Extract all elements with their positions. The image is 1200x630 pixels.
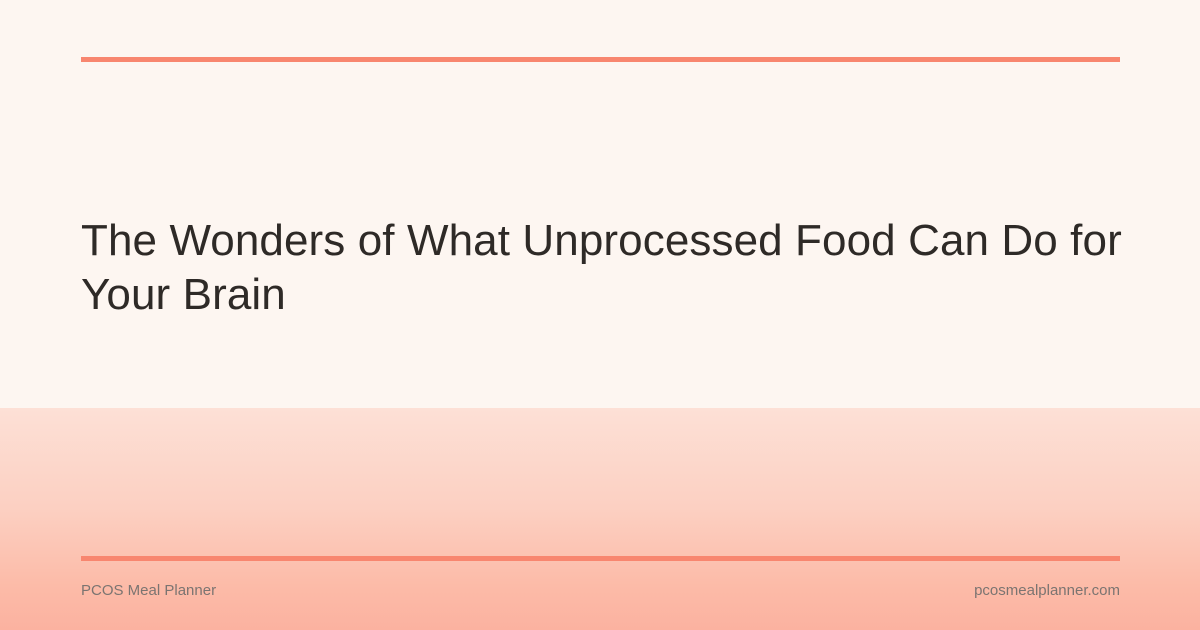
social-share-card: The Wonders of What Unprocessed Food Can… <box>0 0 1200 630</box>
brand-name: PCOS Meal Planner <box>81 580 216 602</box>
card-footer: PCOS Meal Planner pcosmealplanner.com <box>81 580 1120 602</box>
site-url: pcosmealplanner.com <box>974 580 1120 602</box>
bottom-accent-rule <box>81 556 1120 561</box>
page-title: The Wonders of What Unprocessed Food Can… <box>81 214 1156 322</box>
top-accent-rule <box>81 57 1120 62</box>
